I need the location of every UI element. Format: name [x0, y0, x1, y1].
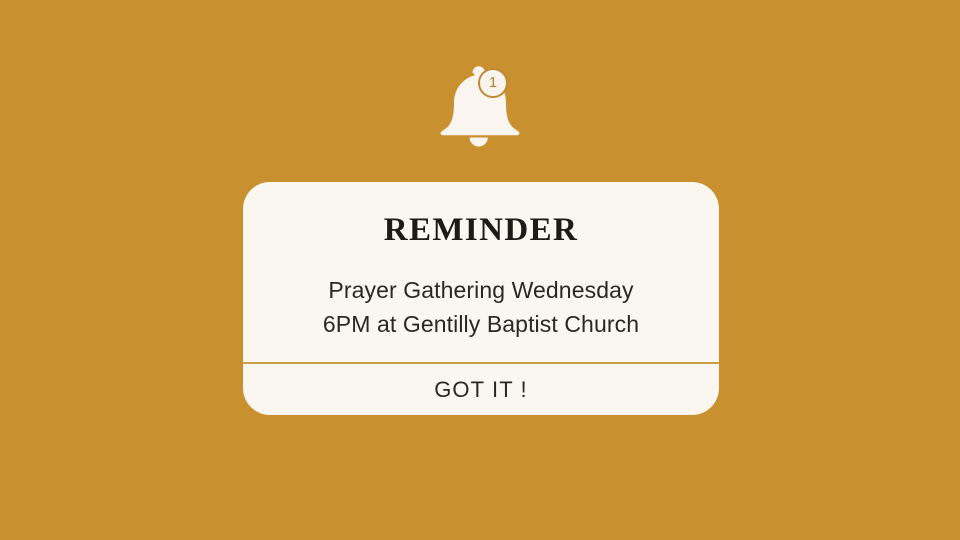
reminder-message-line-1: Prayer Gathering Wednesday [323, 273, 639, 307]
reminder-card-actions: GOT IT ! [243, 364, 719, 415]
got-it-button[interactable]: GOT IT ! [434, 379, 528, 401]
notification-screen: 1 REMINDER Prayer Gathering Wednesday 6P… [0, 0, 960, 540]
reminder-message: Prayer Gathering Wednesday 6PM at Gentil… [323, 273, 639, 341]
notification-badge: 1 [478, 68, 508, 98]
bell-icon [431, 58, 529, 153]
notification-badge-count: 1 [489, 75, 497, 91]
page-title: REMINDER [384, 214, 579, 247]
reminder-card: REMINDER Prayer Gathering Wednesday 6PM … [243, 182, 719, 415]
reminder-message-line-2: 6PM at Gentilly Baptist Church [323, 307, 639, 341]
notification-bell-group[interactable]: 1 [431, 58, 529, 153]
reminder-card-body: REMINDER Prayer Gathering Wednesday 6PM … [243, 182, 719, 362]
